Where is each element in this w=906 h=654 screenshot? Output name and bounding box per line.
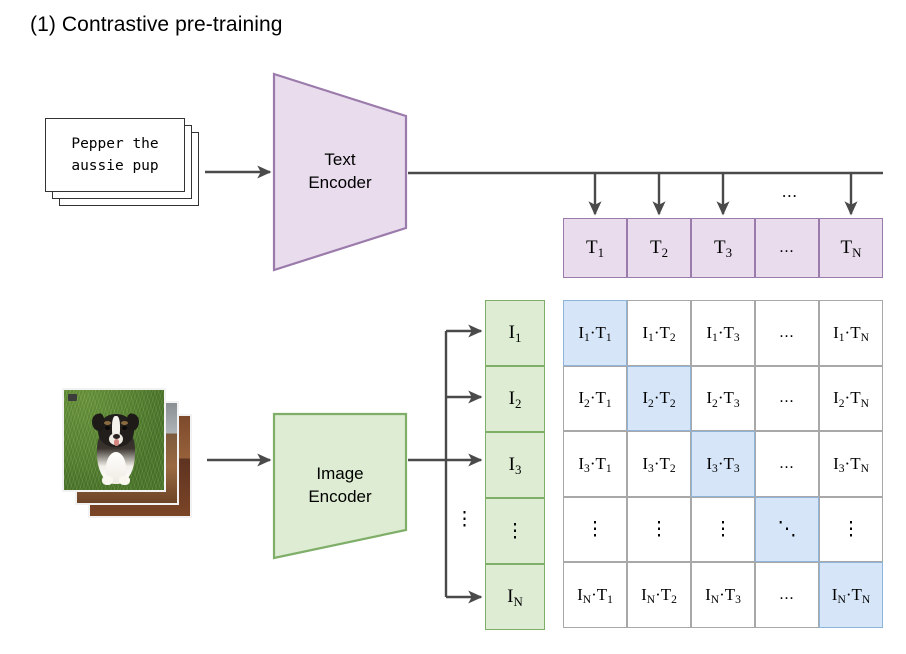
similarity-cell-label: I3·TN (833, 454, 869, 474)
text-encoder-block[interactable]: Text Encoder (272, 72, 408, 272)
similarity-cell-r1-c2[interactable]: I1·T2 (627, 300, 691, 366)
dog-brow-right (121, 421, 128, 425)
text-embedding-cell-ellipsis[interactable]: ... (755, 218, 819, 278)
similarity-cell-r2-c4[interactable]: ... (755, 366, 819, 432)
image-embedding-cell-2[interactable]: I2 (485, 366, 545, 432)
similarity-cell-label: I3·T3 (706, 454, 739, 474)
text-embedding-cell-n[interactable]: TN (819, 218, 883, 278)
similarity-cell-label: I1·T1 (578, 323, 611, 343)
text-embedding-label-3: T3 (714, 237, 732, 259)
similarity-cell-r2-c3[interactable]: I2·T3 (691, 366, 755, 432)
text-embedding-cell-3[interactable]: T3 (691, 218, 755, 278)
similarity-cell-label: I3·T1 (578, 454, 611, 474)
puppy-photo (64, 390, 164, 490)
dog-paw-right (119, 476, 130, 485)
text-embedding-cell-1[interactable]: T1 (563, 218, 627, 278)
image-embedding-cell-ellipsis[interactable]: ⋮ (485, 498, 545, 564)
similarity-cell-label: ⋱ (778, 518, 797, 541)
dog-tongue (114, 439, 119, 446)
image-embedding-cell-3[interactable]: I3 (485, 432, 545, 498)
similarity-cell-label: ... (780, 455, 795, 473)
similarity-cell-label: IN·T3 (705, 585, 741, 605)
similarity-cell-label: IN·T1 (577, 585, 613, 605)
similarity-cell-label: IN·TN (832, 585, 870, 605)
text-input-stack: Pepper the aussie pup (45, 118, 205, 213)
similarity-cell-label: I1·T2 (642, 323, 675, 343)
image-embedding-label-3: I3 (509, 454, 522, 476)
similarity-cell-label: ⋮ (714, 518, 733, 541)
similarity-cell-r4-c4[interactable]: ⋱ (755, 497, 819, 563)
text-caption: Pepper the aussie pup (71, 133, 158, 178)
image-thumb-front (62, 388, 166, 492)
dog-paw-left (102, 476, 113, 485)
text-embedding-cell-2[interactable]: T2 (627, 218, 691, 278)
dog-brow-left (104, 421, 111, 425)
similarity-cell-r2-c1[interactable]: I2·T1 (563, 366, 627, 432)
similarity-cell-r1-c5[interactable]: I1·TN (819, 300, 883, 366)
image-encoder-label: Image Encoder (308, 463, 371, 508)
image-embedding-label-ellipsis: ⋮ (506, 520, 525, 543)
similarity-cell-r4-c1[interactable]: ⋮ (563, 497, 627, 563)
similarity-cell-label: I2·T2 (642, 388, 675, 408)
text-encoder-label: Text Encoder (308, 149, 371, 194)
similarity-cell-label: I3·T2 (642, 454, 675, 474)
similarity-cell-r1-c1[interactable]: I1·T1 (563, 300, 627, 366)
image-embedding-cell-1[interactable]: I1 (485, 300, 545, 366)
similarity-cell-label: I1·T3 (706, 323, 739, 343)
image-embedding-label-1: I1 (509, 322, 522, 344)
image-embedding-label-2: I2 (509, 388, 522, 410)
image-embedding-label-n: IN (507, 586, 523, 608)
similarity-cell-label: I2·TN (833, 388, 869, 408)
similarity-cell-r4-c5[interactable]: ⋮ (819, 497, 883, 563)
similarity-cell-label: I2·T1 (578, 388, 611, 408)
similarity-cell-r5-c4[interactable]: ... (755, 562, 819, 628)
image-embedding-cell-n[interactable]: IN (485, 564, 545, 630)
text-embedding-label-1: T1 (586, 237, 604, 259)
similarity-cell-r5-c3[interactable]: IN·T3 (691, 562, 755, 628)
similarity-cell-label: IN·T2 (641, 585, 677, 605)
similarity-cell-r2-c5[interactable]: I2·TN (819, 366, 883, 432)
similarity-cell-r5-c1[interactable]: IN·T1 (563, 562, 627, 628)
text-embedding-label-n: TN (841, 237, 862, 259)
similarity-cell-r1-c4[interactable]: ... (755, 300, 819, 366)
similarity-cell-label: ... (780, 324, 795, 342)
similarity-cell-r3-c1[interactable]: I3·T1 (563, 431, 627, 497)
dog-eye-left (105, 426, 110, 430)
similarity-cell-label: I1·TN (833, 323, 869, 343)
image-encoder-block[interactable]: Image Encoder (272, 412, 408, 560)
diagram-canvas: (1) Contrastive pre-training Pepper the … (0, 0, 906, 654)
similarity-cell-r2-c2[interactable]: I2·T2 (627, 366, 691, 432)
text-bus-ellipsis: ... (782, 182, 798, 202)
text-card-front: Pepper the aussie pup (45, 118, 185, 192)
similarity-cell-label: ⋮ (650, 518, 669, 541)
similarity-cell-label: ⋮ (842, 518, 861, 541)
similarity-cell-r5-c2[interactable]: IN·T2 (627, 562, 691, 628)
similarity-cell-label: ... (780, 586, 795, 604)
similarity-cell-label: I2·T3 (706, 388, 739, 408)
similarity-cell-r4-c2[interactable]: ⋮ (627, 497, 691, 563)
similarity-cell-r4-c3[interactable]: ⋮ (691, 497, 755, 563)
image-input-stack (62, 388, 207, 533)
similarity-cell-label: ... (780, 389, 795, 407)
similarity-cell-r3-c3[interactable]: I3·T3 (691, 431, 755, 497)
similarity-cell-r3-c2[interactable]: I3·T2 (627, 431, 691, 497)
similarity-cell-r3-c4[interactable]: ... (755, 431, 819, 497)
similarity-cell-r1-c3[interactable]: I1·T3 (691, 300, 755, 366)
similarity-cell-label: ⋮ (586, 518, 605, 541)
photo-corner-mark (68, 394, 77, 401)
text-embedding-label-2: T2 (650, 237, 668, 259)
similarity-cell-r5-c5[interactable]: IN·TN (819, 562, 883, 628)
dog-eye-right (122, 426, 127, 430)
image-bus-ellipsis: ⋮ (455, 508, 475, 531)
text-embedding-label-ellipsis: ... (780, 239, 795, 257)
page-title: (1) Contrastive pre-training (30, 13, 283, 37)
similarity-cell-r3-c5[interactable]: I3·TN (819, 431, 883, 497)
